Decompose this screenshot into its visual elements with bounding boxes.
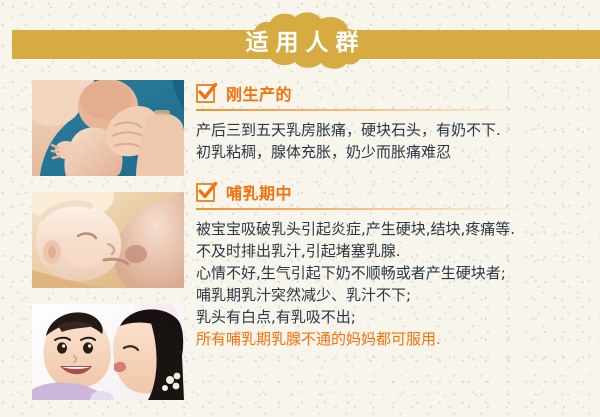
photo-column [32, 80, 184, 400]
section-title: 哺乳期中 [226, 180, 292, 204]
section-during-lactation: 哺乳期中 被宝宝吸破乳头引起炎症,产生硬块,结块,疼痛等. 不及时排出乳汁,引起… [196, 179, 594, 350]
checkbox-checked-icon [196, 84, 215, 103]
section-body: 产后三到五天乳房胀痛，硬块石头，有奶不下. 初乳粘稠，腺体充胀，奶少而胀痛难忍 [196, 119, 594, 163]
photo-mother-kissing-toddler [32, 304, 184, 400]
body-line: 哺乳期乳汁突然减少、乳汁不下; [196, 284, 594, 306]
page-title: 适用人群 [222, 10, 382, 70]
section-title: 刚生产的 [226, 81, 292, 105]
body-line: 产后三到五天乳房胀痛，硬块石头，有奶不下. [196, 119, 594, 141]
checkbox-checked-icon [196, 183, 215, 202]
section-underline [196, 109, 526, 111]
page-header: 适用人群 [0, 0, 600, 74]
body-line-highlight: 所有哺乳期乳腺不通的妈妈都可服用. [196, 328, 594, 350]
body-line: 被宝宝吸破乳头引起炎症,产生硬块,结块,疼痛等. [196, 218, 594, 240]
content-column: 刚生产的 产后三到五天乳房胀痛，硬块石头，有奶不下. 初乳粘稠，腺体充胀，奶少而… [196, 80, 594, 354]
section-underline [196, 208, 526, 210]
body-line: 不及时排出乳汁,引起堵塞乳腺. [196, 240, 594, 262]
section-just-gave-birth: 刚生产的 产后三到五天乳房胀痛，硬块石头，有奶不下. 初乳粘稠，腺体充胀，奶少而… [196, 80, 594, 163]
section-header: 刚生产的 [196, 80, 594, 106]
photo-mother-holding-newborn [32, 80, 184, 176]
section-body: 被宝宝吸破乳头引起炎症,产生硬块,结块,疼痛等. 不及时排出乳汁,引起堵塞乳腺.… [196, 218, 594, 350]
body-line: 初乳粘稠，腺体充胀，奶少而胀痛难忍 [196, 141, 594, 163]
section-header: 哺乳期中 [196, 179, 594, 205]
body-line: 乳头有白点,有乳吸不出; [196, 306, 594, 328]
body-line: 心情不好,生气引起下奶不顺畅或者产生硬块者; [196, 262, 594, 284]
photo-baby-breastfeeding [32, 192, 184, 288]
